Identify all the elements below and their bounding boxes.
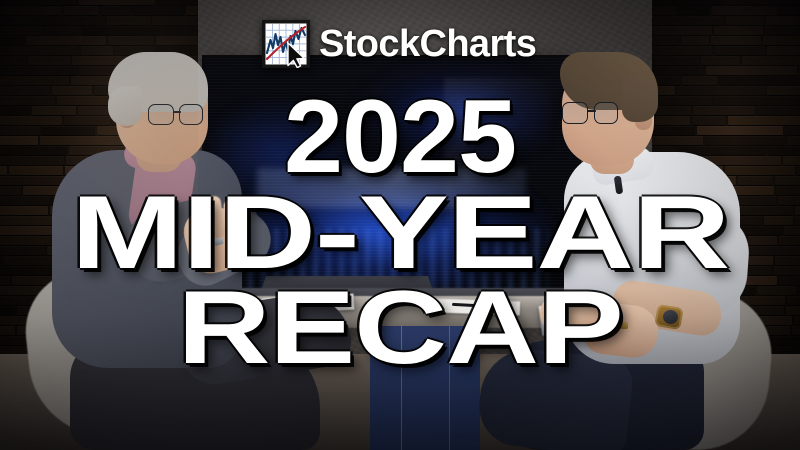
title-line-recap: RECAP [0, 283, 800, 375]
brand-lockup: StockCharts [262, 20, 536, 68]
stockcharts-logo-icon [262, 20, 310, 68]
title-line-midyear: MID-YEAR [0, 188, 800, 280]
thumbnail-canvas: StockCharts 2025 MID-YEAR RECAP [0, 0, 800, 450]
title-overlay: 2025 MID-YEAR RECAP [0, 92, 800, 375]
brand-name: StockCharts [319, 25, 536, 63]
title-line-year: 2025 [0, 92, 800, 184]
